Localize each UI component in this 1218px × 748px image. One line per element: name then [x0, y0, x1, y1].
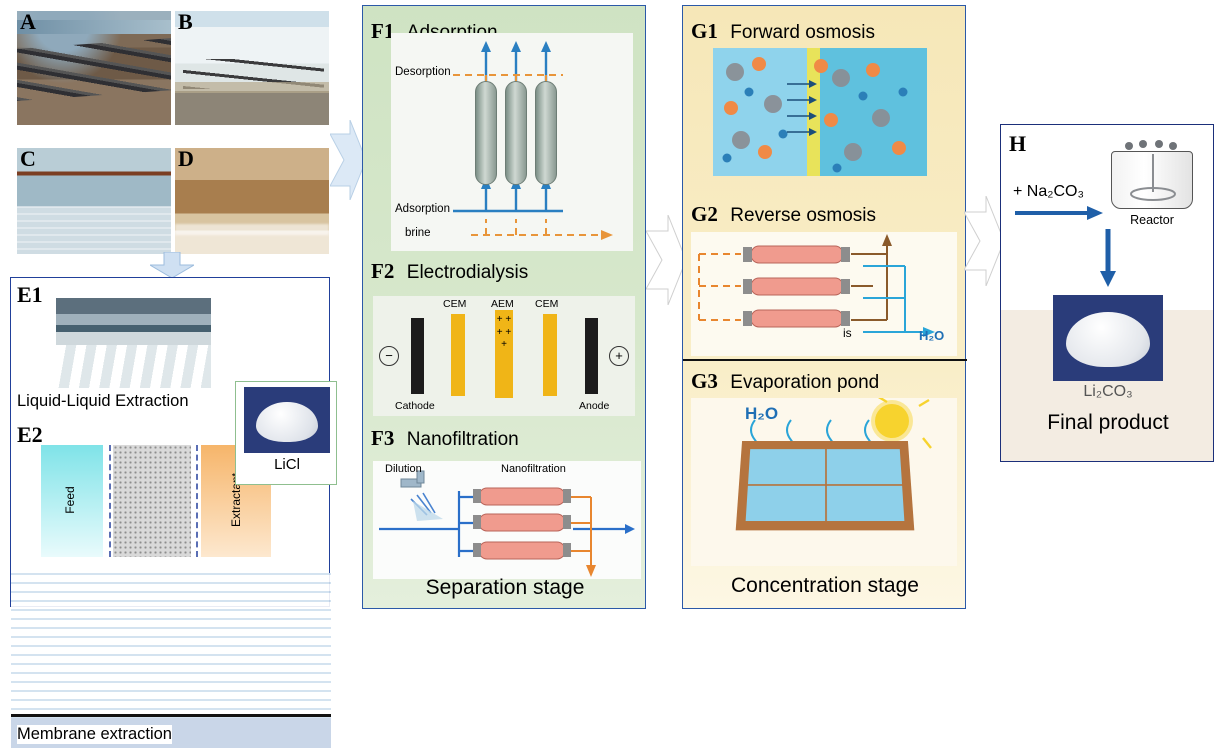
g1-tag: G1: [691, 19, 718, 43]
f3-title: Nanofiltration: [407, 429, 519, 450]
g2-title: Reverse osmosis: [730, 205, 876, 226]
f2-electrodialysis-diagram: + + + + + − + Cathode Anode CEM AEM CEM: [373, 296, 635, 416]
desorption-label: Desorption: [395, 66, 451, 78]
adsorption-column-3: [535, 81, 557, 185]
f1-adsorption-diagram: Desorption Adsorption brine: [391, 33, 633, 251]
arrow-photos-to-extraction: [150, 252, 194, 278]
g1-forward-osmosis-diagram: [713, 48, 927, 176]
reagent-arrow: [1015, 205, 1103, 221]
e1-tag: E1: [17, 284, 43, 306]
g3-evaporation-pond-diagram: H₂O: [691, 398, 957, 566]
is-label: is: [843, 326, 852, 340]
photo-c-brine-lake: C: [16, 147, 172, 255]
reactor-to-product-arrow: [1099, 229, 1117, 287]
photo-b-tag: B: [178, 10, 193, 35]
separation-stage-label: Separation stage: [363, 576, 647, 600]
e1-caption: Liquid-Liquid Extraction: [17, 392, 189, 411]
g-divider: [683, 359, 967, 361]
cathode-symbol: −: [379, 346, 399, 366]
nanofiltration-unit-label: Nanofiltration: [501, 463, 566, 475]
aem-membrane: + + + + +: [495, 310, 513, 398]
photo-c-tag: C: [20, 147, 36, 172]
feed-label: Feed: [63, 469, 77, 531]
g2-water-label: H₂O: [919, 328, 944, 343]
cem-right-membrane: [543, 314, 557, 396]
li2co3-label: Li₂CO₃: [1001, 383, 1215, 401]
reactor-label: Reactor: [1111, 213, 1193, 227]
photo-d-tag: D: [178, 147, 194, 172]
adsorption-column-1: [475, 81, 497, 185]
cem-right-label: CEM: [535, 298, 558, 310]
evaporation-pond: [736, 441, 915, 530]
licl-powder-photo: [244, 387, 330, 453]
final-product-panel: H + Na₂CO₃ Reactor Li₂CO₃ Final product: [1000, 124, 1214, 462]
e1-plant-photo: [56, 298, 211, 388]
f3-tag: F3: [371, 426, 394, 450]
licl-label: LiCl: [236, 456, 338, 473]
f3-heading: F3 Nanofiltration: [371, 426, 519, 451]
anode-electrode: [585, 318, 598, 394]
adsorption-label: Adsorption: [395, 203, 450, 215]
feed-phase: Feed: [41, 445, 103, 557]
f2-heading: F2 Electrodialysis: [371, 259, 528, 284]
final-product-caption: Final product: [1001, 411, 1215, 435]
photo-b-salt-pond: B: [174, 10, 330, 126]
cem-left-label: CEM: [443, 298, 466, 310]
cathode-label: Cathode: [395, 400, 435, 412]
e2-stripe-background: [11, 573, 331, 723]
divider-line: [11, 714, 331, 717]
source-photo-grid: A B C D: [16, 10, 330, 255]
f3-nanofiltration-diagram: Dilution Nanofiltration: [373, 461, 641, 579]
g3-title: Evaporation pond: [730, 372, 879, 393]
g3-heading: G3 Evaporation pond: [691, 369, 879, 394]
g1-heading: G1 Forward osmosis: [691, 19, 875, 44]
adsorption-column-2: [505, 81, 527, 185]
g2-svg: [691, 232, 957, 356]
reactor-vessel: Reactor: [1111, 143, 1193, 219]
cem-left-membrane: [451, 314, 465, 396]
e2-tag: E2: [17, 424, 43, 446]
g1-svg: [713, 48, 927, 176]
f2-tag: F2: [371, 259, 394, 283]
aem-label: AEM: [491, 298, 514, 310]
g3-tag: G3: [691, 369, 718, 393]
extraction-block: E1 Liquid-Liquid Extraction E2 Feed Extr…: [10, 277, 330, 607]
membrane-interface-right: [196, 445, 198, 557]
arrow-extraction-to-separation: [330, 120, 366, 200]
anode-label: Anode: [579, 400, 609, 412]
g2-heading: G2 Reverse osmosis: [691, 202, 876, 227]
h-tag: H: [1009, 133, 1026, 155]
separation-stage-panel: F1 Adsorption: [362, 5, 646, 609]
li2co3-powder-photo: [1053, 295, 1163, 381]
reactor-body: [1111, 151, 1193, 209]
concentration-stage-panel: G1 Forward osmosis: [682, 5, 966, 609]
photo-a-brine-pipes: A: [16, 10, 172, 126]
photo-a-tag: A: [20, 10, 36, 35]
licl-product-inset: LiCl: [235, 381, 337, 485]
cathode-electrode: [411, 318, 424, 394]
f3-svg: [373, 461, 641, 579]
anode-symbol: +: [609, 346, 629, 366]
reagent-label: + Na₂CO₃: [1013, 183, 1084, 201]
e2-caption: Membrane extraction: [17, 725, 172, 744]
membrane-layer: [113, 445, 191, 557]
membrane-interface-left: [109, 445, 111, 557]
g2-tag: G2: [691, 202, 718, 226]
aem-charges: + + + + +: [497, 314, 511, 350]
photo-d-concentrated-brine: D: [174, 147, 330, 255]
arrow-concentration-to-final: [964, 196, 1004, 286]
brine-label: brine: [405, 227, 431, 239]
reactor-impeller: [1112, 152, 1194, 210]
arrow-separation-to-concentration: [646, 215, 686, 305]
dilution-label: Dilution: [385, 463, 422, 475]
f2-title: Electrodialysis: [407, 262, 528, 283]
g2-reverse-osmosis-diagram: is H₂O: [691, 232, 957, 356]
concentration-stage-label: Concentration stage: [683, 574, 967, 598]
g1-title: Forward osmosis: [730, 22, 875, 43]
